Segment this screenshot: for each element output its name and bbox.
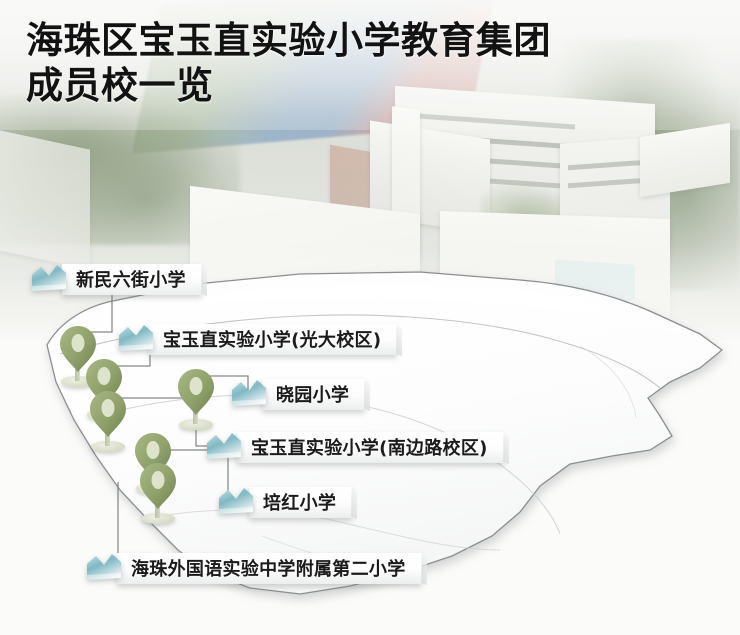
school-label-3[interactable]: 晓园小学 bbox=[230, 377, 365, 411]
school-label-4[interactable]: 宝玉直实验小学(南边路校区) bbox=[205, 430, 504, 464]
school-label-text: 培红小学 bbox=[263, 489, 336, 515]
flag-marker-icon bbox=[30, 264, 68, 294]
school-label-5[interactable]: 培红小学 bbox=[217, 485, 352, 519]
poster-root: 海珠区宝玉直实验小学教育集团 成员校一览 bbox=[0, 0, 740, 635]
school-label-plate: 宝玉直实验小学(光大校区) bbox=[149, 324, 397, 355]
school-label-plate: 新民六街小学 bbox=[62, 264, 202, 295]
map-pin-marker-icon bbox=[138, 462, 178, 510]
school-label-text: 新民六街小学 bbox=[76, 266, 186, 292]
school-label-plate: 晓园小学 bbox=[262, 379, 365, 410]
flag-marker-icon bbox=[205, 432, 243, 462]
school-label-2[interactable]: 宝玉直实验小学(光大校区) bbox=[117, 322, 397, 356]
map-pin-4[interactable] bbox=[174, 368, 218, 430]
school-label-plate: 海珠外国语实验中学附属第二小学 bbox=[117, 553, 422, 584]
page-title: 海珠区宝玉直实验小学教育集团 成员校一览 bbox=[26, 18, 726, 108]
school-label-text: 海珠外国语实验中学附属第二小学 bbox=[131, 555, 406, 581]
school-label-plate: 培红小学 bbox=[249, 487, 352, 518]
school-label-plate: 宝玉直实验小学(南边路校区) bbox=[237, 432, 504, 463]
flag-marker-icon bbox=[217, 487, 255, 517]
map-pin-marker-icon bbox=[88, 390, 128, 438]
school-label-text: 宝玉直实验小学(南边路校区) bbox=[251, 434, 488, 460]
school-label-6[interactable]: 海珠外国语实验中学附属第二小学 bbox=[85, 551, 422, 585]
map-pin-3[interactable] bbox=[86, 390, 130, 452]
map-pin-6[interactable] bbox=[136, 462, 180, 524]
flag-marker-icon bbox=[117, 324, 155, 354]
flag-marker-icon bbox=[85, 553, 123, 583]
school-label-1[interactable]: 新民六街小学 bbox=[30, 262, 202, 296]
school-label-text: 宝玉直实验小学(光大校区) bbox=[163, 326, 381, 352]
school-label-text: 晓园小学 bbox=[276, 381, 349, 407]
map-pin-marker-icon bbox=[176, 368, 216, 416]
flag-marker-icon bbox=[230, 379, 268, 409]
